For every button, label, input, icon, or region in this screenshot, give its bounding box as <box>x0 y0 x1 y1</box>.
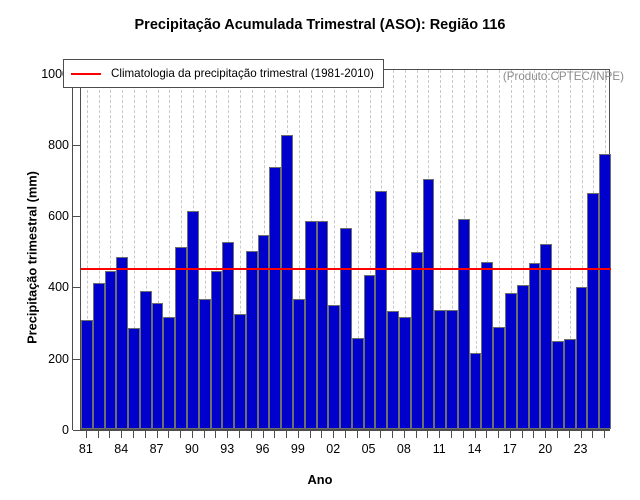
x-tick <box>416 431 417 438</box>
x-tick-label: 17 <box>503 442 517 456</box>
bar <box>352 338 364 429</box>
bar <box>93 283 105 429</box>
x-tick <box>145 431 146 438</box>
x-tick <box>581 431 582 438</box>
x-tick <box>157 431 158 438</box>
bar <box>470 353 482 429</box>
bar <box>81 320 93 429</box>
bar <box>163 317 175 429</box>
bar <box>576 287 588 429</box>
x-tick <box>298 431 299 438</box>
bar <box>187 211 199 429</box>
y-tick <box>73 216 80 217</box>
chart-title: Precipitação Acumulada Trimestral (ASO):… <box>0 17 640 33</box>
x-axis: 818487909396990205081114172023 Ano <box>0 430 640 500</box>
x-tick-label: 87 <box>150 442 164 456</box>
x-tick <box>192 431 193 438</box>
bar <box>599 154 611 429</box>
bar <box>128 328 140 429</box>
bar <box>540 244 552 429</box>
bar <box>317 221 329 429</box>
x-tick <box>357 431 358 438</box>
x-tick <box>569 431 570 438</box>
bar <box>529 263 541 429</box>
x-tick <box>239 431 240 438</box>
x-tick <box>215 431 216 438</box>
bar <box>152 303 164 429</box>
y-tick <box>73 359 80 360</box>
x-tick <box>180 431 181 438</box>
x-tick <box>133 431 134 438</box>
x-tick-label: 14 <box>468 442 482 456</box>
x-tick <box>451 431 452 438</box>
x-tick-label: 05 <box>362 442 376 456</box>
x-tick <box>522 431 523 438</box>
legend: Climatologia da precipitação trimestral … <box>63 59 384 88</box>
chart-root: Precipitação Acumulada Trimestral (ASO):… <box>0 0 640 500</box>
x-tick-label: 93 <box>220 442 234 456</box>
bar <box>175 247 187 429</box>
x-tick-label: 20 <box>538 442 552 456</box>
bar <box>564 339 576 429</box>
bar <box>246 251 258 429</box>
bar <box>105 271 117 429</box>
bar <box>328 305 340 429</box>
x-tick <box>604 431 605 438</box>
x-tick-label: 11 <box>433 442 446 456</box>
x-tick <box>345 431 346 438</box>
x-axis-title: Ano <box>0 472 640 487</box>
y-tick <box>73 287 80 288</box>
bar <box>211 271 223 429</box>
x-tick <box>463 431 464 438</box>
bar <box>411 252 423 429</box>
bar <box>281 135 293 429</box>
x-tick <box>545 431 546 438</box>
x-tick <box>510 431 511 438</box>
x-tick <box>227 431 228 438</box>
bar <box>505 293 517 429</box>
x-tick-label: 81 <box>79 442 93 456</box>
bar <box>387 311 399 429</box>
y-tick-label: 600 <box>48 209 69 223</box>
x-tick <box>263 431 264 438</box>
x-tick <box>380 431 381 438</box>
x-tick <box>427 431 428 438</box>
x-tick-label: 08 <box>397 442 411 456</box>
x-tick <box>369 431 370 438</box>
x-tick <box>498 431 499 438</box>
bar <box>222 242 234 429</box>
bar <box>552 341 564 429</box>
plot-area <box>80 69 610 430</box>
bar <box>423 179 435 429</box>
x-tick <box>486 431 487 438</box>
y-axis-title: Precipitação trimestral (mm) <box>25 138 40 378</box>
bar <box>493 327 505 429</box>
x-tick-label: 99 <box>291 442 305 456</box>
x-tick-label: 90 <box>185 442 199 456</box>
bar <box>434 310 446 429</box>
bar <box>587 193 599 429</box>
x-tick <box>533 431 534 438</box>
bar <box>140 291 152 429</box>
x-tick <box>168 431 169 438</box>
bar <box>340 228 352 429</box>
climatology-reference-line <box>81 268 611 270</box>
x-tick <box>321 431 322 438</box>
x-tick <box>439 431 440 438</box>
y-tick-label: 800 <box>48 138 69 152</box>
y-tick <box>73 145 80 146</box>
bar <box>364 275 376 429</box>
x-tick <box>109 431 110 438</box>
y-tick-label: 400 <box>48 280 69 294</box>
x-tick <box>204 431 205 438</box>
x-tick <box>251 431 252 438</box>
x-tick-label: 96 <box>256 442 270 456</box>
bar <box>446 310 458 429</box>
bar <box>305 221 317 429</box>
bar <box>375 191 387 429</box>
x-tick-label: 02 <box>326 442 340 456</box>
bar-series <box>81 70 609 429</box>
bar <box>399 317 411 429</box>
x-tick-label: 23 <box>574 442 588 456</box>
x-tick <box>310 431 311 438</box>
bar <box>199 299 211 429</box>
legend-line-swatch <box>71 73 101 75</box>
x-tick <box>475 431 476 438</box>
bar <box>234 314 246 429</box>
x-tick <box>98 431 99 438</box>
produto-annotation: (Produto:CPTEC/INPE) <box>503 70 624 83</box>
x-tick <box>404 431 405 438</box>
x-tick <box>557 431 558 438</box>
x-tick <box>286 431 287 438</box>
x-tick <box>121 431 122 438</box>
x-tick <box>86 431 87 438</box>
bar <box>258 235 270 429</box>
x-tick <box>333 431 334 438</box>
x-tick <box>274 431 275 438</box>
legend-item-label: Climatologia da precipitação trimestral … <box>111 67 374 80</box>
bar <box>116 257 128 429</box>
x-tick <box>392 431 393 438</box>
bar <box>517 285 529 429</box>
x-tick <box>592 431 593 438</box>
y-axis-line <box>72 74 73 431</box>
y-tick-label: 200 <box>48 352 69 366</box>
x-tick-label: 84 <box>114 442 128 456</box>
bar <box>481 262 493 429</box>
bar <box>293 299 305 429</box>
bar <box>458 219 470 429</box>
bar <box>269 167 281 429</box>
